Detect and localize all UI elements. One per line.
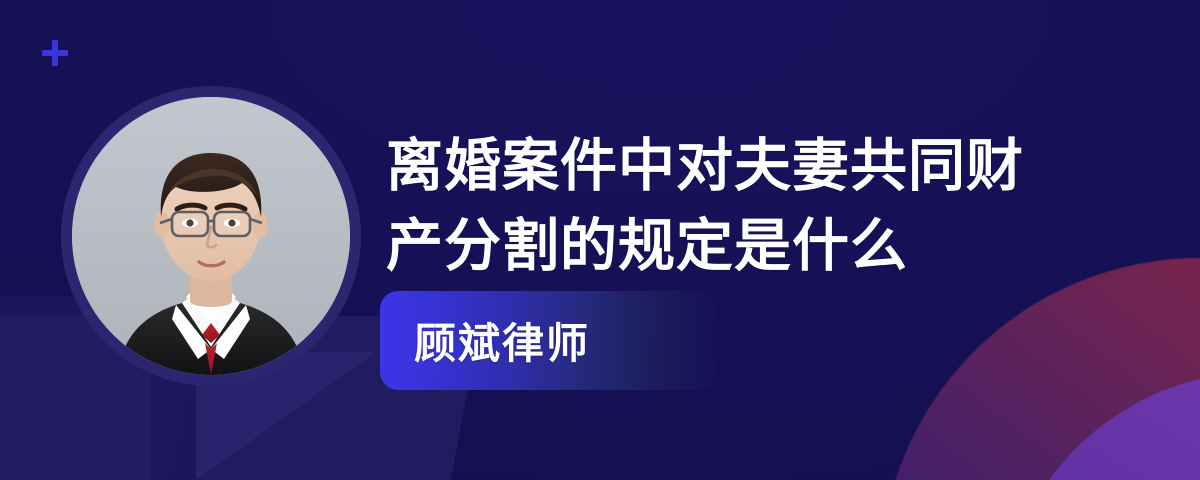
lawyer-name-label: 顾斌律师: [414, 310, 590, 371]
lawyer-name-badge[interactable]: 顾斌律师: [380, 291, 716, 390]
lawyer-qa-banner: 离婚案件中对夫妻共同财 产分割的规定是什么 顾斌律师: [0, 0, 1200, 480]
lawyer-portrait-image: [72, 97, 350, 375]
page-title: 离婚案件中对夫妻共同财 产分割的规定是什么: [386, 126, 1176, 286]
avatar: [72, 97, 350, 375]
plus-icon: [42, 40, 68, 66]
